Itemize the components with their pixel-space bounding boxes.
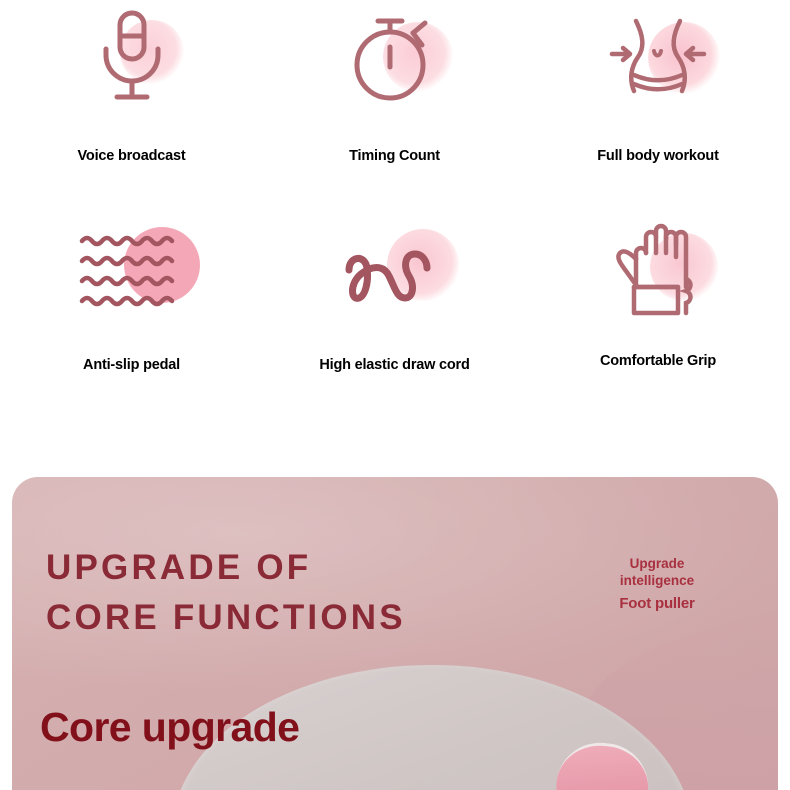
feature-item-full-body-workout[interactable]: Full body workout	[526, 0, 790, 205]
feature-label: Comfortable Grip	[600, 353, 716, 369]
feature-item-high-elastic-draw-cord[interactable]: High elastic draw cord	[263, 205, 526, 405]
feature-item-comfortable-grip[interactable]: Comfortable Grip	[526, 205, 790, 405]
feature-grid: Voice broadcast Timing Count	[0, 0, 790, 450]
side-note-line1: Upgrade	[592, 555, 722, 572]
product-background-shade	[541, 582, 778, 790]
icon-container	[335, 217, 455, 327]
icon-container	[72, 217, 192, 327]
upgrade-banner: UPGRADE OF CORE FUNCTIONS Upgrade intell…	[12, 477, 778, 790]
side-note-line2: intelligence	[592, 572, 722, 589]
feature-item-voice-broadcast[interactable]: Voice broadcast	[0, 0, 263, 205]
icon-container	[335, 2, 455, 112]
feature-label: Full body workout	[597, 148, 718, 164]
banner-title: UPGRADE OF CORE FUNCTIONS	[46, 543, 406, 643]
icon-container	[72, 2, 192, 112]
product-pink-pad	[553, 738, 652, 790]
icon-container	[598, 213, 718, 323]
feature-label: Timing Count	[349, 148, 440, 164]
feature-label: Anti-slip pedal	[83, 357, 180, 373]
banner-title-line1: UPGRADE OF	[46, 548, 311, 587]
banner-title-line2: CORE FUNCTIONS	[46, 593, 406, 643]
feature-label: High elastic draw cord	[319, 357, 469, 373]
gloves-icon	[610, 215, 706, 321]
wavy-lines-icon	[78, 229, 186, 315]
stopwatch-icon	[350, 7, 440, 107]
icon-container	[598, 2, 718, 112]
feature-item-anti-slip-pedal[interactable]: Anti-slip pedal	[0, 205, 263, 405]
feature-item-timing-count[interactable]: Timing Count	[263, 0, 526, 205]
feature-label: Voice broadcast	[78, 148, 186, 164]
waist-slimming-icon	[606, 7, 710, 107]
core-upgrade-heading: Core upgrade	[40, 704, 299, 751]
side-note-big: Foot puller	[592, 595, 722, 612]
side-note-small: Upgrade intelligence	[592, 555, 722, 589]
banner-side-note: Upgrade intelligence Foot puller	[592, 555, 722, 612]
elastic-cord-icon	[341, 232, 449, 312]
microphone-icon	[94, 7, 170, 107]
